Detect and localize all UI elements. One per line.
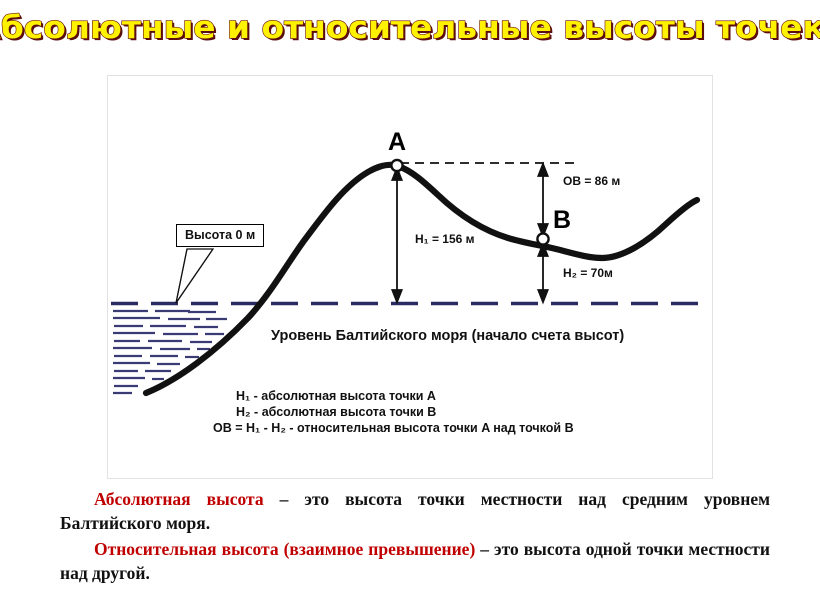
- h1-measure-label: H₁ = 156 м: [415, 232, 475, 246]
- ob-measure-label: OB = 86 м: [563, 174, 620, 188]
- point-a-label: A: [388, 128, 406, 157]
- legend-line-h1: H₁ - абсолютная высота точки A: [236, 388, 436, 404]
- point-b-label: B: [553, 206, 571, 235]
- ob-measure-arrow: [538, 164, 547, 236]
- legend-line-ob: OB = H₁ - H₂ - относительная высота точк…: [213, 420, 574, 436]
- point-b-marker: [537, 233, 548, 244]
- callout-pointer: [176, 249, 213, 303]
- callout-height-zero: Высота 0 м: [176, 224, 264, 247]
- definition-relative: Относительная высота (взаимное превышени…: [60, 537, 770, 585]
- terrain-profile-curve: [146, 165, 697, 393]
- h2-measure-arrow: [538, 244, 547, 302]
- definition-absolute-term: Абсолютная высота: [94, 489, 264, 509]
- definitions-block: Абсолютная высота – это высота точки мес…: [60, 487, 770, 588]
- point-a-marker: [391, 160, 402, 171]
- legend-line-h2: H₂ - абсолютная высота точки B: [236, 404, 436, 420]
- definition-relative-term: Относительная высота (взаимное превышени…: [94, 539, 475, 559]
- sea-level-caption: Уровень Балтийского моря (начало счета в…: [271, 328, 624, 344]
- h1-measure-arrow: [392, 168, 401, 302]
- h2-measure-label: H₂ = 70м: [563, 266, 613, 280]
- callout-height-zero-label: Высота 0 м: [185, 228, 255, 242]
- slide-canvas: Абсолютные и относительные высоты точек …: [0, 0, 820, 615]
- definition-absolute: Абсолютная высота – это высота точки мес…: [60, 487, 770, 535]
